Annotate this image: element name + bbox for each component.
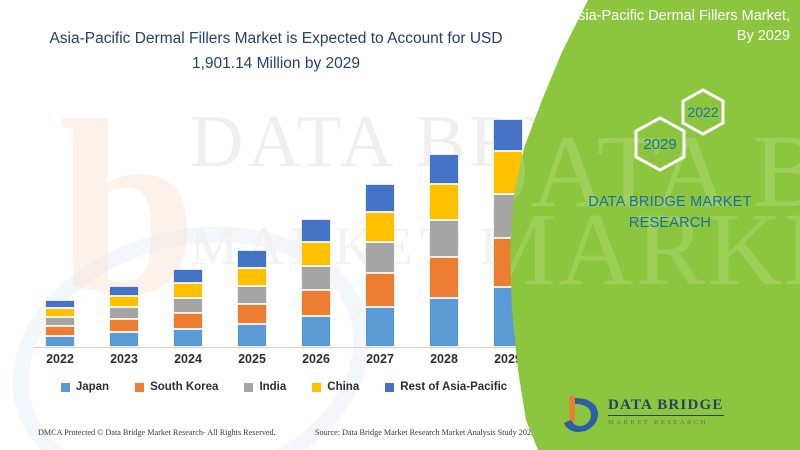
panel-brand-text: DATA BRIDGE MARKET RESEARCH: [554, 192, 786, 234]
bar-segment[interactable]: [429, 220, 459, 257]
x-axis-label: 2024: [156, 352, 220, 366]
bar-slot: [284, 104, 348, 347]
hexagon-2022: 2022: [680, 88, 726, 136]
bar-segment[interactable]: [429, 184, 459, 220]
page-title: Asia-Pacific Dermal Fillers Market is Ex…: [22, 26, 530, 76]
x-axis-label: 2027: [348, 352, 412, 366]
bar-slot: [92, 104, 156, 347]
legend-swatch-icon: [385, 383, 394, 392]
right-green-panel: DATA BRIDGE MARKET RESEARCH Asia-Pacific…: [510, 0, 800, 450]
bar-segment[interactable]: [237, 268, 267, 286]
bar-segment[interactable]: [237, 250, 267, 268]
bar-segment[interactable]: [365, 184, 395, 212]
logo-subtitle: MARKET RESEARCH: [608, 419, 724, 426]
bar-segment[interactable]: [365, 307, 395, 347]
stacked-bar[interactable]: [301, 219, 331, 347]
legend-swatch-icon: [244, 383, 253, 392]
stacked-bar[interactable]: [237, 250, 267, 347]
bar-segment[interactable]: [365, 242, 395, 273]
bar-segment[interactable]: [45, 336, 75, 347]
bar-segment[interactable]: [45, 326, 75, 336]
data-bridge-logo: DATA BRIDGE MARKET RESEARCH: [560, 392, 730, 436]
bar-segment[interactable]: [301, 266, 331, 290]
bar-segment[interactable]: [301, 290, 331, 316]
bar-segment[interactable]: [301, 316, 331, 347]
x-axis-label: 2022: [28, 352, 92, 366]
legend-label: India: [259, 381, 286, 393]
bar-segment[interactable]: [45, 317, 75, 326]
bar-segment[interactable]: [429, 257, 459, 298]
footer: DMCA Protected © Data Bridge Market Rese…: [0, 422, 560, 450]
bar-segment[interactable]: [301, 219, 331, 242]
bar-segment[interactable]: [109, 296, 139, 307]
stacked-bar[interactable]: [45, 300, 75, 347]
bar-segment[interactable]: [173, 329, 203, 347]
x-axis-label: 2023: [92, 352, 156, 366]
x-axis-labels: 20222023202420252026202720282029: [28, 352, 540, 366]
chart-legend: JapanSouth KoreaIndiaChinaRest of Asia-P…: [28, 381, 540, 393]
bar-segment[interactable]: [173, 269, 203, 283]
bar-segment[interactable]: [237, 304, 267, 324]
stacked-bar[interactable]: [365, 184, 395, 347]
data-bridge-logo-text: DATA BRIDGE MARKET RESEARCH: [608, 396, 724, 426]
logo-name: DATA BRIDGE: [608, 397, 724, 416]
bar-segment[interactable]: [109, 332, 139, 347]
legend-swatch-icon: [312, 383, 321, 392]
bar-slot: [348, 104, 412, 347]
footer-source-text: Source: Data Bridge Market Research Mark…: [315, 428, 535, 437]
data-bridge-logo-mark: [560, 392, 604, 436]
bar-segment[interactable]: [173, 298, 203, 313]
bar-slot: [28, 104, 92, 347]
legend-item[interactable]: South Korea: [135, 381, 218, 393]
stacked-bar[interactable]: [429, 154, 459, 347]
legend-item[interactable]: China: [312, 381, 359, 393]
bar-slot: [156, 104, 220, 347]
hexagon-2029-label: 2029: [633, 116, 687, 172]
legend-item[interactable]: Japan: [61, 381, 109, 393]
bar-segment[interactable]: [45, 300, 75, 308]
bar-segment[interactable]: [237, 324, 267, 347]
stacked-bar[interactable]: [173, 269, 203, 347]
infographic-page: b DATA BRIDGE MARKET RESEARCH Asia-Pacif…: [0, 0, 800, 450]
bar-segment[interactable]: [493, 119, 523, 151]
legend-label: Rest of Asia-Pacific: [400, 381, 507, 393]
bar-segment[interactable]: [45, 308, 75, 317]
panel-title: Asia-Pacific Dermal Fillers Market, By 2…: [558, 6, 790, 46]
bar-segment[interactable]: [109, 307, 139, 319]
x-axis-label: 2028: [412, 352, 476, 366]
stacked-bar[interactable]: [109, 286, 139, 347]
legend-label: China: [327, 381, 359, 393]
hexagon-2022-label: 2022: [680, 88, 726, 136]
bar-segment[interactable]: [173, 313, 203, 329]
bar-segment[interactable]: [365, 212, 395, 242]
bar-segment[interactable]: [109, 319, 139, 332]
x-axis-label: 2025: [220, 352, 284, 366]
bar-segment[interactable]: [301, 242, 331, 266]
stacked-bar-chart: 20222023202420252026202720282029: [28, 100, 540, 348]
legend-swatch-icon: [61, 383, 70, 392]
legend-item[interactable]: India: [244, 381, 286, 393]
x-axis-line: [34, 347, 534, 348]
legend-item[interactable]: Rest of Asia-Pacific: [385, 381, 507, 393]
bar-segment[interactable]: [109, 286, 139, 296]
legend-label: Japan: [76, 381, 109, 393]
bar-slot: [220, 104, 284, 347]
footer-dmca-text: DMCA Protected © Data Bridge Market Rese…: [38, 428, 276, 437]
x-axis-label: 2026: [284, 352, 348, 366]
legend-label: South Korea: [150, 381, 218, 393]
chart-bars: [28, 104, 540, 347]
bar-segment[interactable]: [173, 283, 203, 298]
legend-swatch-icon: [135, 383, 144, 392]
bar-segment[interactable]: [365, 273, 395, 307]
bar-slot: [412, 104, 476, 347]
bar-segment[interactable]: [429, 154, 459, 184]
hexagon-2029: 2029: [633, 116, 687, 172]
bar-segment[interactable]: [429, 298, 459, 347]
bar-segment[interactable]: [237, 286, 267, 304]
